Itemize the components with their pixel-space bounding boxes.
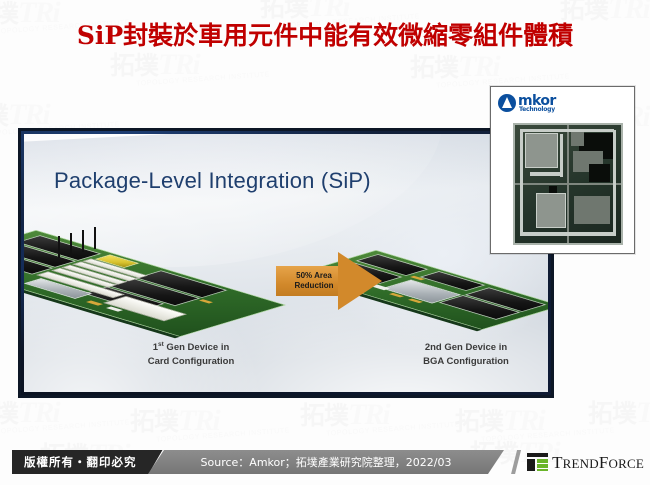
caption-1st-gen: 1st Gen Device in Card Configuration — [106, 340, 276, 369]
slide-canvas: 拓墣TRiTOPOLOGY RESEARCH INSTITUTE 拓墣TRiTO… — [0, 0, 650, 485]
watermark-cjk: 拓墣 — [0, 399, 18, 428]
watermark-english: TOPOLOGY RESEARCH INSTITUTE — [481, 427, 615, 443]
photo-component — [589, 164, 610, 182]
caption-line2: Card Configuration — [106, 355, 276, 369]
page-title: SiP封裝於車用元件中能有效微縮零組件體積 — [0, 16, 650, 52]
page-title-text: SiP封裝於車用元件中能有效微縮零組件體積 — [77, 21, 573, 50]
watermark-cjk: 拓墣 — [455, 407, 503, 436]
watermark-tri: TRi — [348, 398, 389, 431]
source-note: Source：Amkor；拓墣產業研究院整理，2022/03 — [148, 450, 504, 474]
watermark-english: TOPOLOGY RESEARCH INSTITUTE — [136, 71, 270, 87]
photo-die — [536, 193, 566, 228]
watermark-tri: TRi — [158, 48, 199, 81]
arrow-label-line2: Reduction — [294, 281, 333, 291]
amkor-logo: mkor Technology — [498, 92, 556, 114]
header-pin — [58, 236, 60, 258]
watermark-english: TOPOLOGY RESEARCH INSTITUTE — [0, 419, 130, 435]
trendforce-logo: TRENDFORCE — [511, 450, 644, 474]
photo-pad-rail — [560, 134, 563, 176]
watermark-tri: TRi — [503, 404, 544, 437]
device-2nd-gen-bga — [376, 250, 548, 330]
watermark-tri: TRi — [178, 404, 219, 437]
figure-frame: Package-Level Integration (SiP) — [18, 128, 554, 398]
copyright-badge: 版權所有・翻印必究 — [12, 450, 163, 474]
amkor-wordmark: mkor Technology — [518, 94, 556, 113]
caption-line2: BGA Configuration — [376, 355, 548, 369]
watermark-cjk: 拓墣 — [300, 401, 348, 430]
inset-panel-amkor: mkor Technology — [490, 86, 635, 254]
photo-pad-rail — [530, 172, 562, 176]
watermark-tri: TRi — [458, 50, 499, 83]
pcb-isometric — [24, 230, 286, 337]
trendforce-wordmark: TRENDFORCE — [552, 454, 644, 471]
photo-pad-rail — [613, 130, 616, 236]
arrow-label-line1: 50% Area — [296, 271, 332, 281]
area-reduction-arrow: 50% Area Reduction — [276, 252, 382, 310]
watermark-cjk: 拓墣 — [130, 407, 178, 436]
header-pin — [94, 227, 96, 249]
smd-part — [86, 301, 103, 306]
photo-pad-rail — [520, 232, 613, 236]
watermark-english: TOPOLOGY RESEARCH INSTITUTE — [326, 421, 460, 437]
figure-canvas: Package-Level Integration (SiP) — [24, 134, 548, 392]
arrow-label: 50% Area Reduction — [278, 266, 350, 296]
watermark-cjk: 拓墣 — [110, 51, 158, 80]
watermark-cjk: 拓墣 — [0, 101, 8, 130]
amkor-mark-icon — [498, 94, 516, 112]
photo-component — [549, 186, 557, 193]
photo-divider — [515, 183, 621, 185]
footer-bar: 版權所有・翻印必究 Source：Amkor；拓墣產業研究院整理，2022/03… — [0, 443, 650, 485]
trendforce-mark-icon — [527, 453, 548, 471]
caption-line1: 1st Gen Device in — [106, 340, 276, 355]
caption-2nd-gen: 2nd Gen Device in BGA Configuration — [376, 340, 548, 369]
watermark-tri: TRi — [636, 396, 650, 429]
header-pin — [82, 230, 84, 252]
watermark-english: TOPOLOGY RESEARCH INSTITUTE — [156, 427, 290, 443]
pcb-face — [24, 230, 286, 337]
photo-component — [574, 196, 610, 224]
photo-pad-rail — [520, 129, 613, 133]
smd-part — [199, 299, 213, 303]
sip-module-photo — [513, 123, 623, 245]
caption-line1: 2nd Gen Device in — [376, 340, 548, 355]
photo-component — [571, 132, 584, 146]
header-pin — [70, 233, 72, 255]
photo-die — [525, 133, 559, 168]
device-1st-gen-card — [36, 230, 286, 336]
watermark-cjk: 拓墣 — [588, 399, 636, 428]
diagram-title: Package-Level Integration (SiP) — [54, 168, 371, 194]
photo-pad-rail — [520, 130, 523, 236]
watermark-tri: TRi — [8, 98, 49, 131]
watermark-cjk: 拓墣 — [410, 53, 458, 82]
watermark-tri: TRi — [18, 396, 59, 429]
logo-slash — [511, 450, 521, 474]
amkor-tagline: Technology — [519, 107, 556, 113]
